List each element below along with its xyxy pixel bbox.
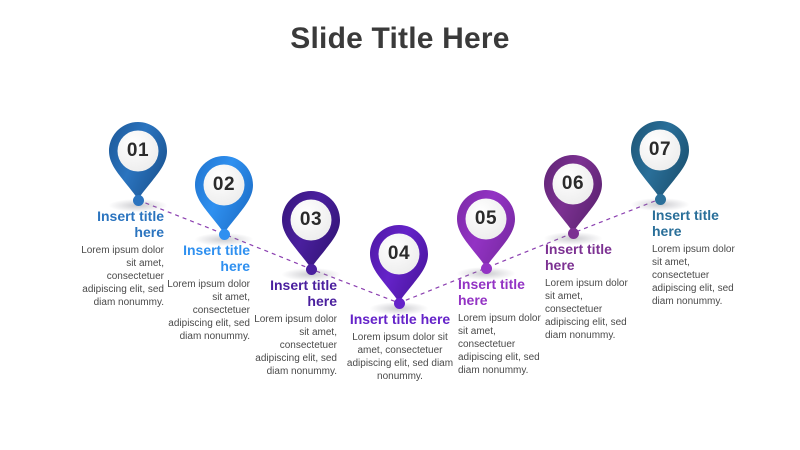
pin-number: 06	[544, 155, 602, 213]
pin-tip-dot	[133, 195, 144, 206]
step-title: Insert title here	[72, 208, 164, 240]
step-title: Insert title here	[545, 241, 637, 273]
step-text-block: Insert title hereLorem ipsum dolor sit a…	[245, 277, 337, 378]
pin-tip-dot	[481, 263, 492, 274]
pin-tip-dot	[568, 228, 579, 239]
pin-tip-dot	[655, 194, 666, 205]
pin-number: 03	[282, 191, 340, 249]
step-text-block: Insert title hereLorem ipsum dolor sit a…	[72, 208, 164, 309]
step-text-block: Insert title hereLorem ipsum dolor sit a…	[545, 241, 637, 342]
step-description: Lorem ipsum dolor sit amet, consectetuer…	[345, 331, 455, 383]
step-text-block: Insert title hereLorem ipsum dolor sit a…	[652, 207, 744, 308]
map-pin-icon[interactable]: 04	[370, 225, 428, 303]
map-pin-icon[interactable]: 05	[457, 190, 515, 268]
map-pin-icon[interactable]: 01	[109, 122, 167, 200]
step-description: Lorem ipsum dolor sit amet, consectetuer…	[245, 313, 337, 378]
page-title: Slide Title Here	[0, 22, 800, 56]
pin-number: 04	[370, 225, 428, 283]
step-title: Insert title here	[245, 277, 337, 309]
pin-number: 02	[195, 156, 253, 214]
step-description: Lorem ipsum dolor sit amet, consectetuer…	[545, 277, 637, 342]
map-pin-icon[interactable]: 06	[544, 155, 602, 233]
step-text-block: Insert title hereLorem ipsum dolor sit a…	[158, 242, 250, 343]
pin-tip-dot	[219, 229, 230, 240]
pin-number: 05	[457, 190, 515, 248]
pin-number: 07	[631, 121, 689, 179]
slide-canvas: Slide Title Here 01Insert title hereLore…	[0, 0, 800, 450]
map-pin-icon[interactable]: 03	[282, 191, 340, 269]
step-description: Lorem ipsum dolor sit amet, consectetuer…	[458, 312, 550, 377]
step-text-block: Insert title hereLorem ipsum dolor sit a…	[345, 311, 455, 383]
step-description: Lorem ipsum dolor sit amet, consectetuer…	[158, 278, 250, 343]
map-pin-icon[interactable]: 02	[195, 156, 253, 234]
step-title: Insert title here	[158, 242, 250, 274]
map-pin-icon[interactable]: 07	[631, 121, 689, 199]
pin-tip-dot	[394, 298, 405, 309]
step-title: Insert title here	[652, 207, 744, 239]
pin-number: 01	[109, 122, 167, 180]
step-description: Lorem ipsum dolor sit amet, consectetuer…	[72, 244, 164, 309]
step-title: Insert title here	[345, 311, 455, 327]
pin-tip-dot	[306, 264, 317, 275]
step-title: Insert title here	[458, 276, 550, 308]
step-text-block: Insert title hereLorem ipsum dolor sit a…	[458, 276, 550, 377]
step-description: Lorem ipsum dolor sit amet, consectetuer…	[652, 243, 744, 308]
